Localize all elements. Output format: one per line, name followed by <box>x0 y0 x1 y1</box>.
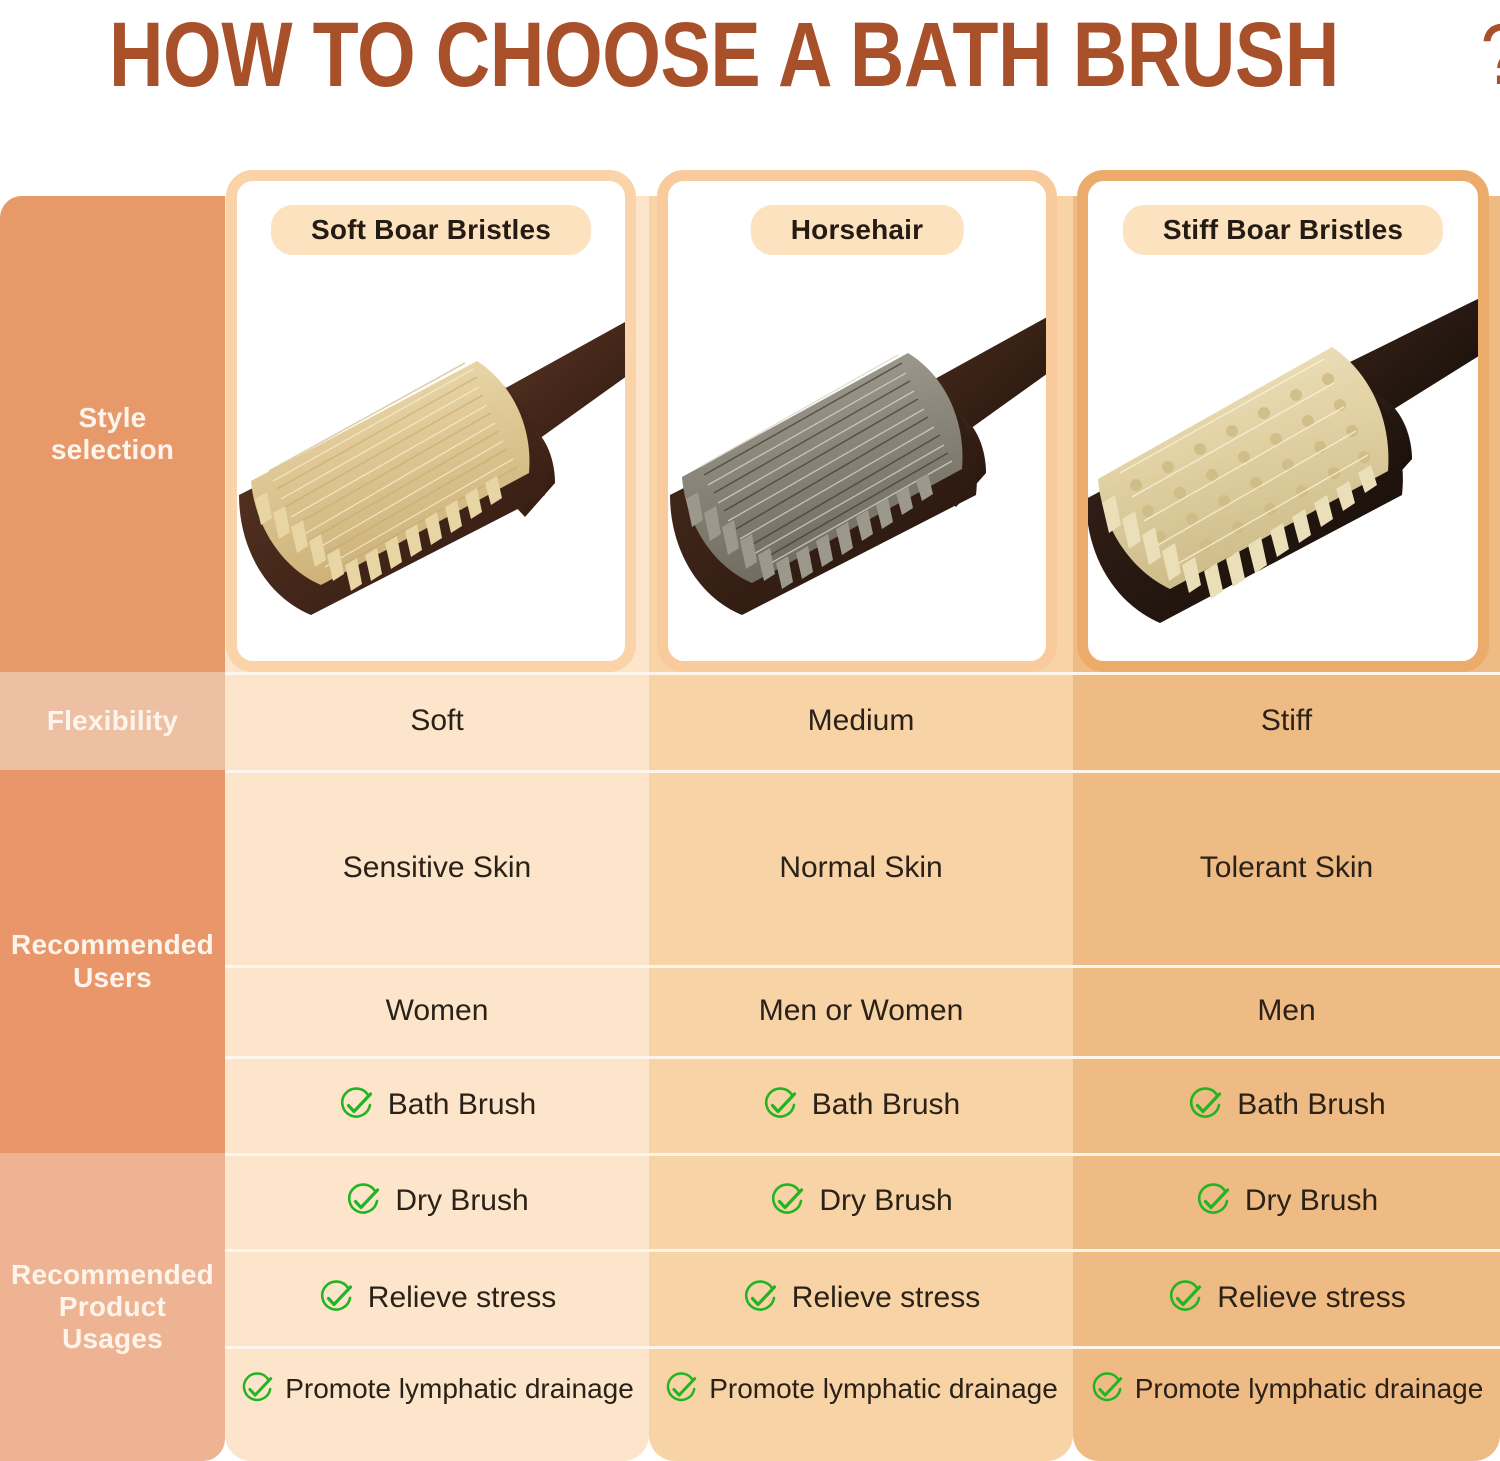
usage-item: Dry Brush <box>649 1153 1073 1249</box>
cell-gender-horsehair: Men or Women <box>649 965 1073 1056</box>
usage-label: Bath Brush <box>388 1088 536 1122</box>
check-circle-icon <box>318 1280 354 1316</box>
product-card-stiff-boar[interactable]: Stiff Boar Bristles <box>1077 170 1489 672</box>
usage-label: Relieve stress <box>368 1281 556 1315</box>
usage-item: Bath Brush <box>649 1056 1073 1153</box>
product-card-title-stiff-boar: Stiff Boar Bristles <box>1123 205 1443 255</box>
sidebar-label-recommended-users-line1: Recommended <box>11 929 214 961</box>
product-card-title-horsehair: Horsehair <box>751 205 964 255</box>
usage-label: Relieve stress <box>1217 1281 1405 1315</box>
cell-gender-soft-boar: Women <box>225 965 649 1056</box>
comparison-table: Style selection Flexibility Recommended … <box>0 196 1500 1461</box>
usage-label: Promote lymphatic drainage <box>1135 1373 1484 1405</box>
page-title: HOW TO CHOOSE A BATH BRUSH ? <box>0 0 1500 110</box>
sidebar-row-recommended-product-usages: Recommended Product Usages <box>0 1153 225 1461</box>
usage-item: Relieve stress <box>225 1249 649 1346</box>
check-circle-icon <box>1090 1372 1124 1406</box>
usage-item: Bath Brush <box>225 1056 649 1153</box>
cell-flexibility-soft-boar: Soft <box>225 672 649 770</box>
sidebar-row-flexibility: Flexibility <box>0 672 225 770</box>
usage-item: Promote lymphatic drainage <box>649 1346 1073 1432</box>
usage-item: Promote lymphatic drainage <box>225 1346 649 1432</box>
usage-item: Bath Brush <box>1073 1056 1500 1153</box>
check-circle-icon <box>769 1183 805 1219</box>
product-image-horsehair <box>668 273 1046 661</box>
product-image-soft-boar <box>237 273 625 661</box>
cell-flexibility-horsehair: Medium <box>649 672 1073 770</box>
cell-flexibility-stiff-boar: Stiff <box>1073 672 1500 770</box>
sidebar-label-style-selection-line1: Style <box>51 402 174 434</box>
usage-item: Relieve stress <box>649 1249 1073 1346</box>
check-circle-icon <box>345 1183 381 1219</box>
check-circle-icon <box>1195 1183 1231 1219</box>
cell-gender-stiff-boar: Men <box>1073 965 1500 1056</box>
usage-label: Promote lymphatic drainage <box>709 1373 1058 1405</box>
usage-label: Relieve stress <box>792 1281 980 1315</box>
usage-item: Relieve stress <box>1073 1249 1500 1346</box>
page-title-text: HOW TO CHOOSE A BATH BRUSH <box>109 3 1339 108</box>
usage-item: Dry Brush <box>1073 1153 1500 1249</box>
brush-illustration-stiff-boar <box>1088 273 1478 661</box>
usage-label: Bath Brush <box>1237 1088 1385 1122</box>
sidebar-label-style-selection-line2: selection <box>51 434 174 466</box>
row-header-sidebar: Style selection Flexibility Recommended … <box>0 196 225 1461</box>
check-circle-icon <box>664 1372 698 1406</box>
usage-label: Promote lymphatic drainage <box>285 1373 634 1405</box>
check-circle-icon <box>338 1087 374 1123</box>
cell-skin-soft-boar: Sensitive Skin <box>225 770 649 965</box>
sidebar-label-recommended-users-line2: Users <box>11 962 214 994</box>
cell-skin-horsehair: Normal Skin <box>649 770 1073 965</box>
brush-illustration-soft-boar <box>237 273 625 661</box>
sidebar-label-flexibility: Flexibility <box>47 705 178 737</box>
usage-item: Dry Brush <box>225 1153 649 1249</box>
product-image-stiff-boar <box>1088 273 1478 661</box>
check-circle-icon <box>1187 1087 1223 1123</box>
usage-label: Bath Brush <box>812 1088 960 1122</box>
usage-label: Dry Brush <box>1245 1184 1378 1218</box>
sidebar-row-style-selection: Style selection <box>0 196 225 672</box>
sidebar-label-usages-line2: Product <box>11 1291 214 1323</box>
sidebar-label-usages-line3: Usages <box>11 1323 214 1355</box>
sidebar-row-recommended-users: Recommended Users <box>0 770 225 1153</box>
check-circle-icon <box>742 1280 778 1316</box>
check-circle-icon <box>762 1087 798 1123</box>
cell-skin-stiff-boar: Tolerant Skin <box>1073 770 1500 965</box>
usage-label: Dry Brush <box>395 1184 528 1218</box>
page-title-question-mark: ? <box>1480 6 1500 105</box>
check-circle-icon <box>240 1372 274 1406</box>
usage-label: Dry Brush <box>819 1184 952 1218</box>
product-card-soft-boar[interactable]: Soft Boar Bristles <box>226 170 636 672</box>
product-card-horsehair[interactable]: Horsehair <box>657 170 1057 672</box>
check-circle-icon <box>1167 1280 1203 1316</box>
product-card-title-soft-boar: Soft Boar Bristles <box>271 205 591 255</box>
usage-item: Promote lymphatic drainage <box>1073 1346 1500 1432</box>
brush-illustration-horsehair <box>668 273 1046 661</box>
sidebar-label-usages-line1: Recommended <box>11 1259 214 1291</box>
